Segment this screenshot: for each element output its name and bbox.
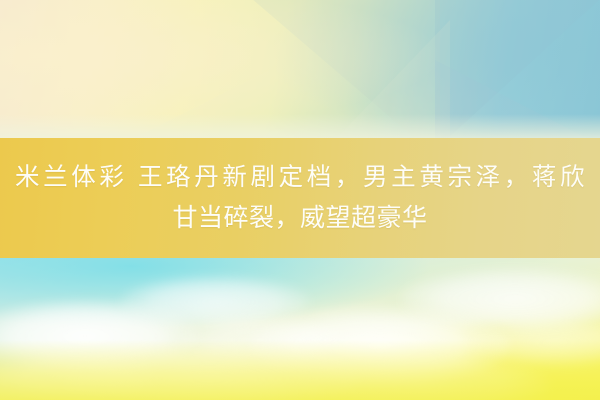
headline-line-2: 甘当碎裂，威望超豪华 xyxy=(15,198,585,238)
bottom-sky-glow xyxy=(0,340,600,400)
bottom-sky-background xyxy=(0,258,600,400)
headline-text: 米兰体彩 王珞丹新剧定档，男主黄宗泽，蒋欣 甘当碎裂，威望超豪华 xyxy=(15,158,585,238)
headline-band: 米兰体彩 王珞丹新剧定档，男主黄宗泽，蒋欣 甘当碎裂，威望超豪华 xyxy=(0,138,600,258)
headline-line-1: 米兰体彩 王珞丹新剧定档，男主黄宗泽，蒋欣 xyxy=(15,158,585,198)
top-sky-bottom-fade xyxy=(0,114,600,140)
top-sky-background xyxy=(0,0,600,140)
banner-image: 米兰体彩 王珞丹新剧定档，男主黄宗泽，蒋欣 甘当碎裂，威望超豪华 xyxy=(0,0,600,400)
